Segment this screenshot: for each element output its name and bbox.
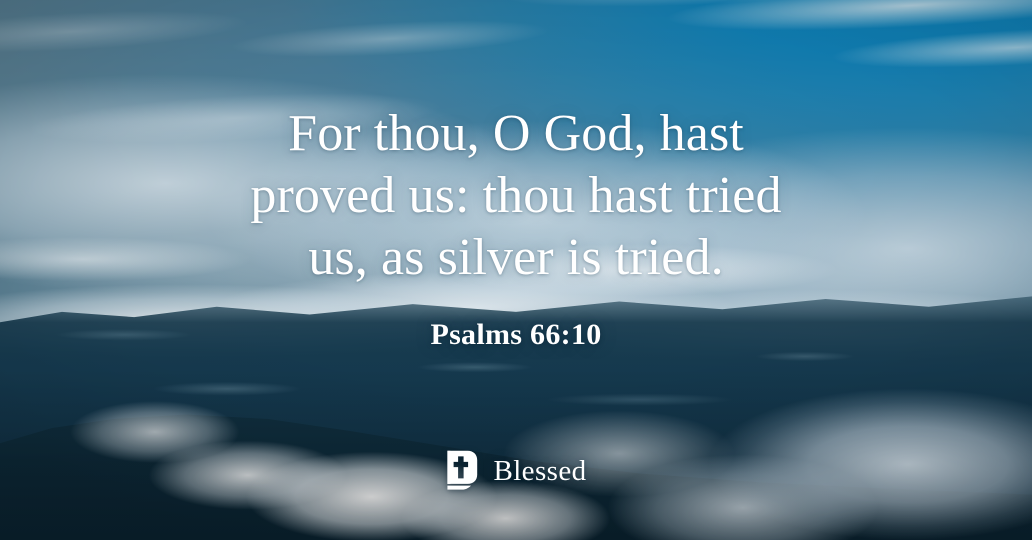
bible-cross-icon (445, 450, 479, 492)
card-content: For thou, O God, hast proved us: thou ha… (0, 0, 1032, 540)
verse-line: For thou, O God, hast (166, 103, 866, 165)
verse-text: For thou, O God, hast proved us: thou ha… (166, 103, 866, 289)
brand-name: Blessed (493, 454, 586, 488)
verse-line: us, as silver is tried. (166, 227, 866, 289)
verse-image-card: For thou, O God, hast proved us: thou ha… (0, 0, 1032, 540)
brand-logo[interactable]: Blessed (0, 450, 1032, 492)
verse-reference: Psalms 66:10 (430, 317, 601, 353)
verse-line: proved us: thou hast tried (166, 165, 866, 227)
